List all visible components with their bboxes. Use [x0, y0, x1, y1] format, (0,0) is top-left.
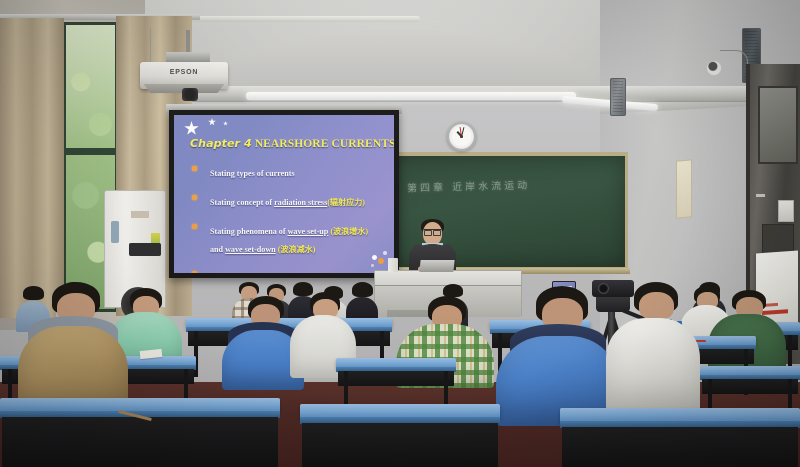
bullet-marker-icon — [192, 166, 197, 171]
slide-bullet-list: Stating types of currents Stating concep… — [186, 163, 394, 273]
student-figure — [606, 282, 700, 412]
desk-surface — [0, 398, 280, 412]
slide-title-chapter: Chapter 4 — [190, 137, 252, 150]
student-desk — [300, 404, 500, 467]
circle-decoration-icon — [383, 251, 387, 255]
star-decoration-icon — [208, 118, 216, 126]
circle-decoration-icon — [371, 264, 374, 267]
star-decoration-icon — [223, 121, 228, 126]
clock-face — [452, 127, 471, 146]
star-decoration-icon — [184, 121, 199, 136]
circle-decoration-icon — [372, 255, 377, 260]
projector-lens — [182, 88, 198, 101]
desk-front-panel — [302, 423, 498, 467]
bullet-marker-icon — [192, 224, 197, 229]
wall-clock — [447, 122, 476, 151]
bullet-text: Stating types of currents — [210, 169, 295, 178]
blackboard-chalk-text: 第四章 近岸水流运动 — [407, 176, 531, 194]
projection-screen[interactable]: Chapter 4 NEARSHORE CURRENTS Stating typ… — [169, 110, 399, 278]
fluorescent-light-fixture — [180, 16, 420, 22]
projector-brand-label: EPSON — [140, 69, 228, 76]
fluorescent-light-fixture — [246, 92, 576, 100]
speaker-grill — [613, 81, 623, 113]
door-window — [758, 86, 798, 164]
wall-speaker — [610, 78, 626, 116]
paper-cup — [388, 258, 398, 272]
bullet-text: Stating phenomena of wave set-up (波浪增水)a… — [210, 227, 368, 254]
clock-center-pin — [460, 135, 463, 138]
security-camera-icon — [706, 60, 722, 76]
bullet-marker-icon — [192, 271, 197, 273]
projector: EPSON — [140, 62, 228, 89]
slide-bullet-item: Stating concept of radiation stress(辐射应力… — [186, 192, 394, 210]
circle-decoration-icon — [378, 258, 384, 264]
student-desk — [0, 398, 280, 467]
student-desk — [560, 408, 800, 467]
light-switch-plate[interactable] — [778, 200, 794, 222]
lecture-hall-photo: EPSON 第四章 近岸水流运动 Chapter 4 NEARSHORE CUR… — [0, 0, 800, 467]
presentation-slide: Chapter 4 NEARSHORE CURRENTS Stating typ… — [174, 115, 394, 273]
student-torso — [606, 318, 700, 412]
projector-cable — [150, 28, 151, 62]
slide-bullet-item: Stating characteristics of longshore cur… — [186, 268, 394, 273]
bullet-marker-icon — [192, 195, 197, 200]
slide-bullet-item: Stating phenomena of wave set-up (波浪增水)a… — [186, 221, 394, 257]
student-figure — [496, 286, 620, 426]
slide-title: Chapter 4 NEARSHORE CURRENTS — [190, 137, 386, 150]
ac-vent — [129, 243, 161, 256]
slide-bullet-item: Stating types of currents — [186, 163, 394, 181]
desk-front-panel — [2, 417, 278, 467]
slide-title-main: NEARSHORE CURRENTS — [255, 138, 394, 150]
desk-surface — [300, 404, 500, 418]
bullet-text: Stating concept of radiation stress(辐射应力… — [210, 198, 365, 207]
student-head — [639, 292, 674, 320]
wall-notice-board — [676, 159, 692, 218]
curtain-left[interactable] — [0, 18, 64, 318]
door-handle[interactable] — [756, 194, 765, 197]
glasses-icon — [424, 229, 441, 233]
ac-brand-label — [131, 211, 149, 218]
podium-laptop[interactable] — [419, 260, 454, 272]
window-mullion — [66, 148, 115, 155]
desk-surface — [560, 408, 800, 422]
camera-cable — [720, 50, 748, 64]
ac-display-panel — [111, 221, 119, 243]
desk-front-panel — [562, 427, 798, 467]
